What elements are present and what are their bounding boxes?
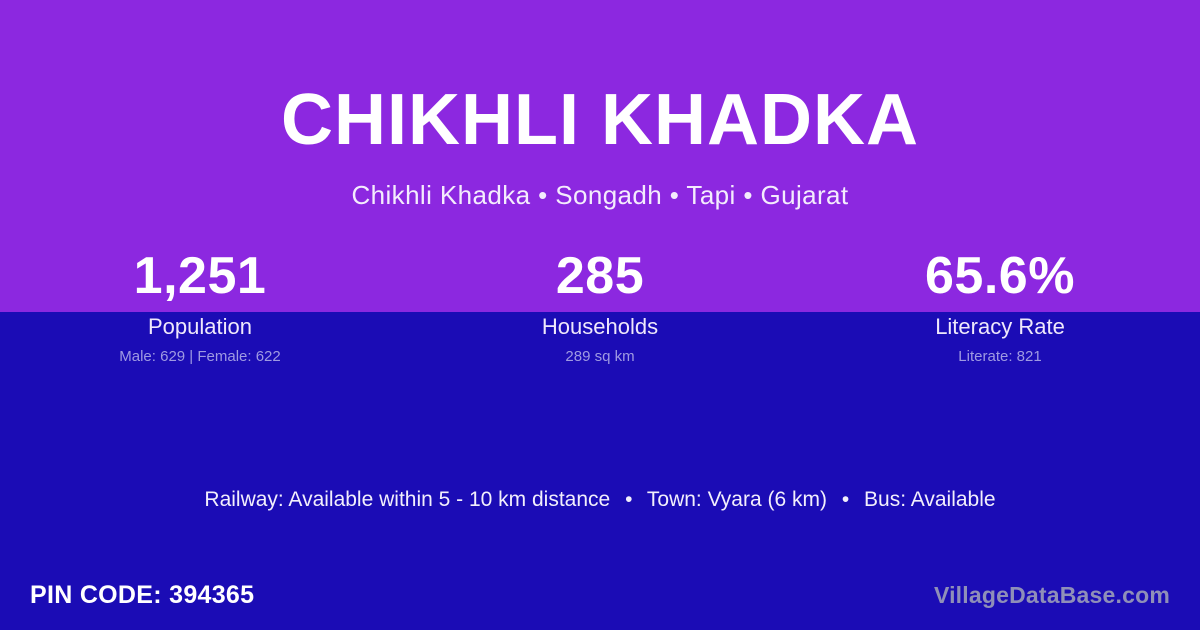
pin-code: PIN CODE: 394365 (30, 583, 254, 608)
connectivity-bus: Bus: Available (864, 488, 996, 511)
stat-value-households: 285 (400, 246, 800, 306)
brand-watermark: VillageDataBase.com (934, 584, 1170, 607)
stat-label-literacy-rate: Literacy Rate (800, 312, 1200, 342)
breadcrumb: Chikhli Khadka • Songadh • Tapi • Gujara… (0, 182, 1200, 208)
connectivity-railway: Railway: Available within 5 - 10 km dist… (204, 488, 610, 511)
village-info-card: CHIKHLI KHADKA Chikhli Khadka • Songadh … (0, 0, 1200, 630)
stat-sub-population: Male: 629 | Female: 622 (0, 346, 400, 368)
stat-sub-literacy-rate: Literate: 821 (800, 346, 1200, 368)
stat-literacy-rate: 65.6% Literacy Rate Literate: 821 (800, 246, 1200, 368)
stat-value-population: 1,251 (0, 246, 400, 306)
page-title: CHIKHLI KHADKA (0, 84, 1200, 156)
connectivity-separator-2: • (833, 485, 858, 515)
connectivity-town: Town: Vyara (6 km) (647, 488, 827, 511)
stats-row: 1,251 Population Male: 629 | Female: 622… (0, 246, 1200, 368)
stat-households: 285 Households 289 sq km (400, 246, 800, 368)
stat-value-literacy-rate: 65.6% (800, 246, 1200, 306)
stat-population: 1,251 Population Male: 629 | Female: 622 (0, 246, 400, 368)
stat-sub-households: 289 sq km (400, 346, 800, 368)
stat-label-population: Population (0, 312, 400, 342)
connectivity-line: Railway: Available within 5 - 10 km dist… (0, 485, 1200, 515)
connectivity-separator-1: • (616, 485, 641, 515)
footer: PIN CODE: 394365 VillageDataBase.com (0, 560, 1200, 630)
stat-label-households: Households (400, 312, 800, 342)
